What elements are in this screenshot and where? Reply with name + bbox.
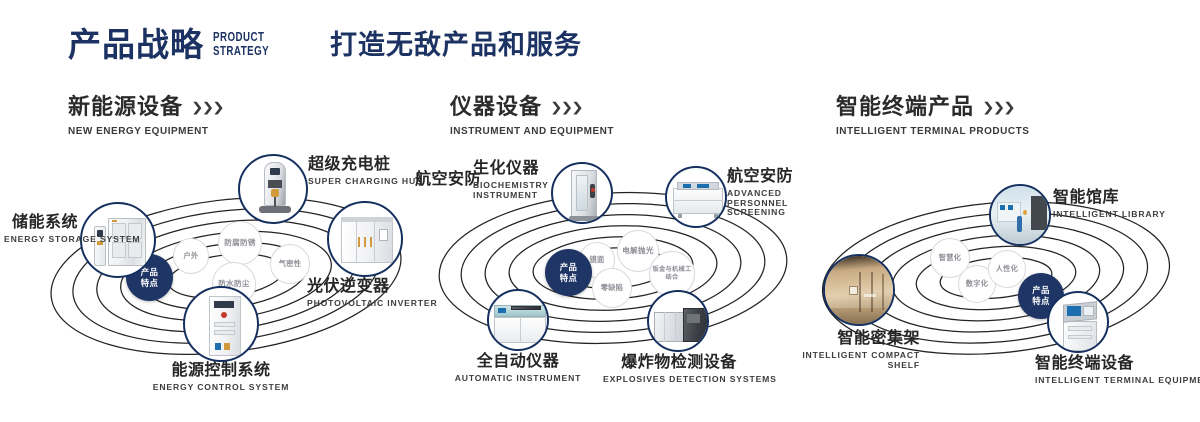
chevron-right-icon: ❯❯❯ <box>191 101 223 114</box>
node-label-cn: 储能系统 <box>4 214 78 232</box>
product-features-badge: 产品 特点 <box>545 249 592 296</box>
cluster-new-energy-equipment: 户外 防腐防锈 气密性 防水防尘 产品 特点 储能 <box>30 150 430 400</box>
section-title-cn: 智能终端产品 ❯❯❯ <box>836 96 1040 118</box>
node-label-en: INTELLIGENT LIBRARY <box>1053 210 1166 220</box>
node-label-energy-storage-system: 储能系统 ENERGY STORAGE SYSTEM <box>4 214 78 245</box>
node-energy-control-system[interactable] <box>183 286 259 362</box>
compact-shelf-icon <box>825 256 893 324</box>
inverter-cabinet-icon <box>329 203 401 275</box>
node-intelligent-terminal-equipment[interactable] <box>1047 291 1109 353</box>
node-explosives-detection-systems[interactable] <box>647 290 709 352</box>
node-label-cn: 生化仪器 <box>473 160 563 178</box>
node-label-cn: 爆炸物检测设备 <box>603 354 755 372</box>
section-title-new-energy: 新能源设备 ❯❯❯ NEW ENERGY EQUIPMENT <box>68 96 223 137</box>
node-label-cn: 智能密集架 <box>780 330 920 348</box>
section-title-en: INTELLIGENT TERMINAL PRODUCTS <box>836 125 1029 137</box>
smart-kiosk-icon <box>1049 293 1107 351</box>
page-subtitle: 打造无敌产品和服务 <box>330 32 582 59</box>
node-advanced-personnel-screening[interactable] <box>665 166 727 228</box>
cluster-instrument-and-equipment: 镜面 电解抛光 钣金与机械工结合 零缺陷 产品 特点 航空安防 生化仪器 <box>415 150 815 400</box>
feature-bubble: 防腐防锈 <box>218 221 262 265</box>
smart-library-icon <box>991 186 1049 244</box>
node-label-en: BIOCHEMISTRY INSTRUMENT <box>473 181 563 200</box>
product-strategy-infographic: 产品战略 PRODUCT STRATEGY 打造无敌产品和服务 新能源设备 ❯❯… <box>0 0 1200 422</box>
section-title-en: NEW ENERGY EQUIPMENT <box>68 125 215 137</box>
node-label-en: ENERGY CONTROL SYSTEM <box>151 383 291 393</box>
badge-line1: 产品 <box>560 262 578 273</box>
feature-bubble: 户外 <box>173 238 209 274</box>
chevron-right-icon: ❯❯❯ <box>982 101 1014 114</box>
automatic-analyzer-icon <box>489 291 547 349</box>
node-label-en: EXPLOSIVES DETECTION SYSTEMS <box>603 375 755 385</box>
screening-machine-icon <box>667 168 725 226</box>
node-intelligent-library[interactable] <box>989 184 1051 246</box>
page-title-cn: 产品战略 <box>68 28 204 61</box>
node-label-cn: 航空安防 <box>415 171 481 189</box>
node-label-energy-control-system: 能源控制系统 ENERGY CONTROL SYSTEM <box>151 362 291 393</box>
node-label-biochemistry-instrument: 生化仪器 BIOCHEMISTRY INSTRUMENT <box>473 160 563 200</box>
section-title-en: INSTRUMENT AND EQUIPMENT <box>450 125 614 137</box>
section-title-intelligent: 智能终端产品 ❯❯❯ INTELLIGENT TERMINAL PRODUCTS <box>836 96 1040 137</box>
badge-line2: 特点 <box>560 273 578 284</box>
node-label-cn: 智能终端设备 <box>1035 355 1200 373</box>
chevron-right-icon: ❯❯❯ <box>550 101 582 114</box>
node-label-aviation-security-left: 航空安防 <box>415 171 481 189</box>
section-title-cn: 仪器设备 ❯❯❯ <box>450 96 623 118</box>
page-title-en-line2: STRATEGY <box>213 45 269 59</box>
node-label-explosives-detection-systems: 爆炸物检测设备 EXPLOSIVES DETECTION SYSTEMS <box>603 354 755 385</box>
node-label-automatic-instrument: 全自动仪器 AUTOMATIC INSTRUMENT <box>443 353 593 384</box>
node-label-super-charging-hub: 超级充电桩 SUPER CHARGING HUB <box>308 156 423 187</box>
node-label-cn: 能源控制系统 <box>151 362 291 380</box>
page-title-en-line1: PRODUCT <box>213 31 269 45</box>
node-label-intelligent-compact-shelf: 智能密集架 INTELLIGENT COMPACT SHELF <box>780 330 920 370</box>
charging-pile-icon <box>240 156 306 222</box>
section-title-instrument: 仪器设备 ❯❯❯ INSTRUMENT AND EQUIPMENT <box>450 96 623 137</box>
node-automatic-instrument[interactable] <box>487 289 549 351</box>
badge-line2: 特点 <box>1032 296 1050 307</box>
page-title-en: PRODUCT STRATEGY <box>213 31 269 61</box>
badge-line2: 特点 <box>141 278 159 289</box>
node-photovoltaic-inverter[interactable] <box>327 201 403 277</box>
node-super-charging-hub[interactable] <box>238 154 308 224</box>
section-title-cn: 新能源设备 ❯❯❯ <box>68 96 223 118</box>
badge-line1: 产品 <box>1032 285 1050 296</box>
control-cabinet-icon <box>185 288 257 360</box>
node-label-en: INTELLIGENT TERMINAL EQUIPMENT <box>1035 376 1200 386</box>
header-title-group: 产品战略 PRODUCT STRATEGY <box>68 28 285 61</box>
node-label-en: INTELLIGENT COMPACT SHELF <box>780 351 920 370</box>
node-label-intelligent-terminal-equipment: 智能终端设备 INTELLIGENT TERMINAL EQUIPMENT <box>1035 355 1200 386</box>
node-label-cn: 超级充电桩 <box>308 156 423 174</box>
feature-bubble: 零缺陷 <box>592 268 632 308</box>
explosives-detector-icon <box>649 292 707 350</box>
section-label: 新能源设备 <box>68 96 183 118</box>
node-label-intelligent-library: 智能馆库 INTELLIGENT LIBRARY <box>1053 189 1166 220</box>
page-header: 产品战略 PRODUCT STRATEGY 打造无敌产品和服务 <box>0 0 1200 90</box>
section-label: 仪器设备 <box>450 96 542 118</box>
node-label-en: SUPER CHARGING HUB <box>308 177 423 187</box>
section-label: 智能终端产品 <box>836 96 974 118</box>
node-label-cn: 智能馆库 <box>1053 189 1166 207</box>
node-label-en: AUTOMATIC INSTRUMENT <box>443 374 593 384</box>
cluster-intelligent-terminal-products: 智慧化 数字化 人性化 产品 特点 智能馆库 INTELLIGENT LIBRA… <box>800 150 1200 400</box>
feature-bubble: 人性化 <box>988 250 1026 288</box>
node-label-cn: 全自动仪器 <box>443 353 593 371</box>
feature-bubble: 气密性 <box>270 244 310 284</box>
node-label-en: ENERGY STORAGE SYSTEM <box>4 235 78 245</box>
node-intelligent-compact-shelf[interactable] <box>823 254 895 326</box>
